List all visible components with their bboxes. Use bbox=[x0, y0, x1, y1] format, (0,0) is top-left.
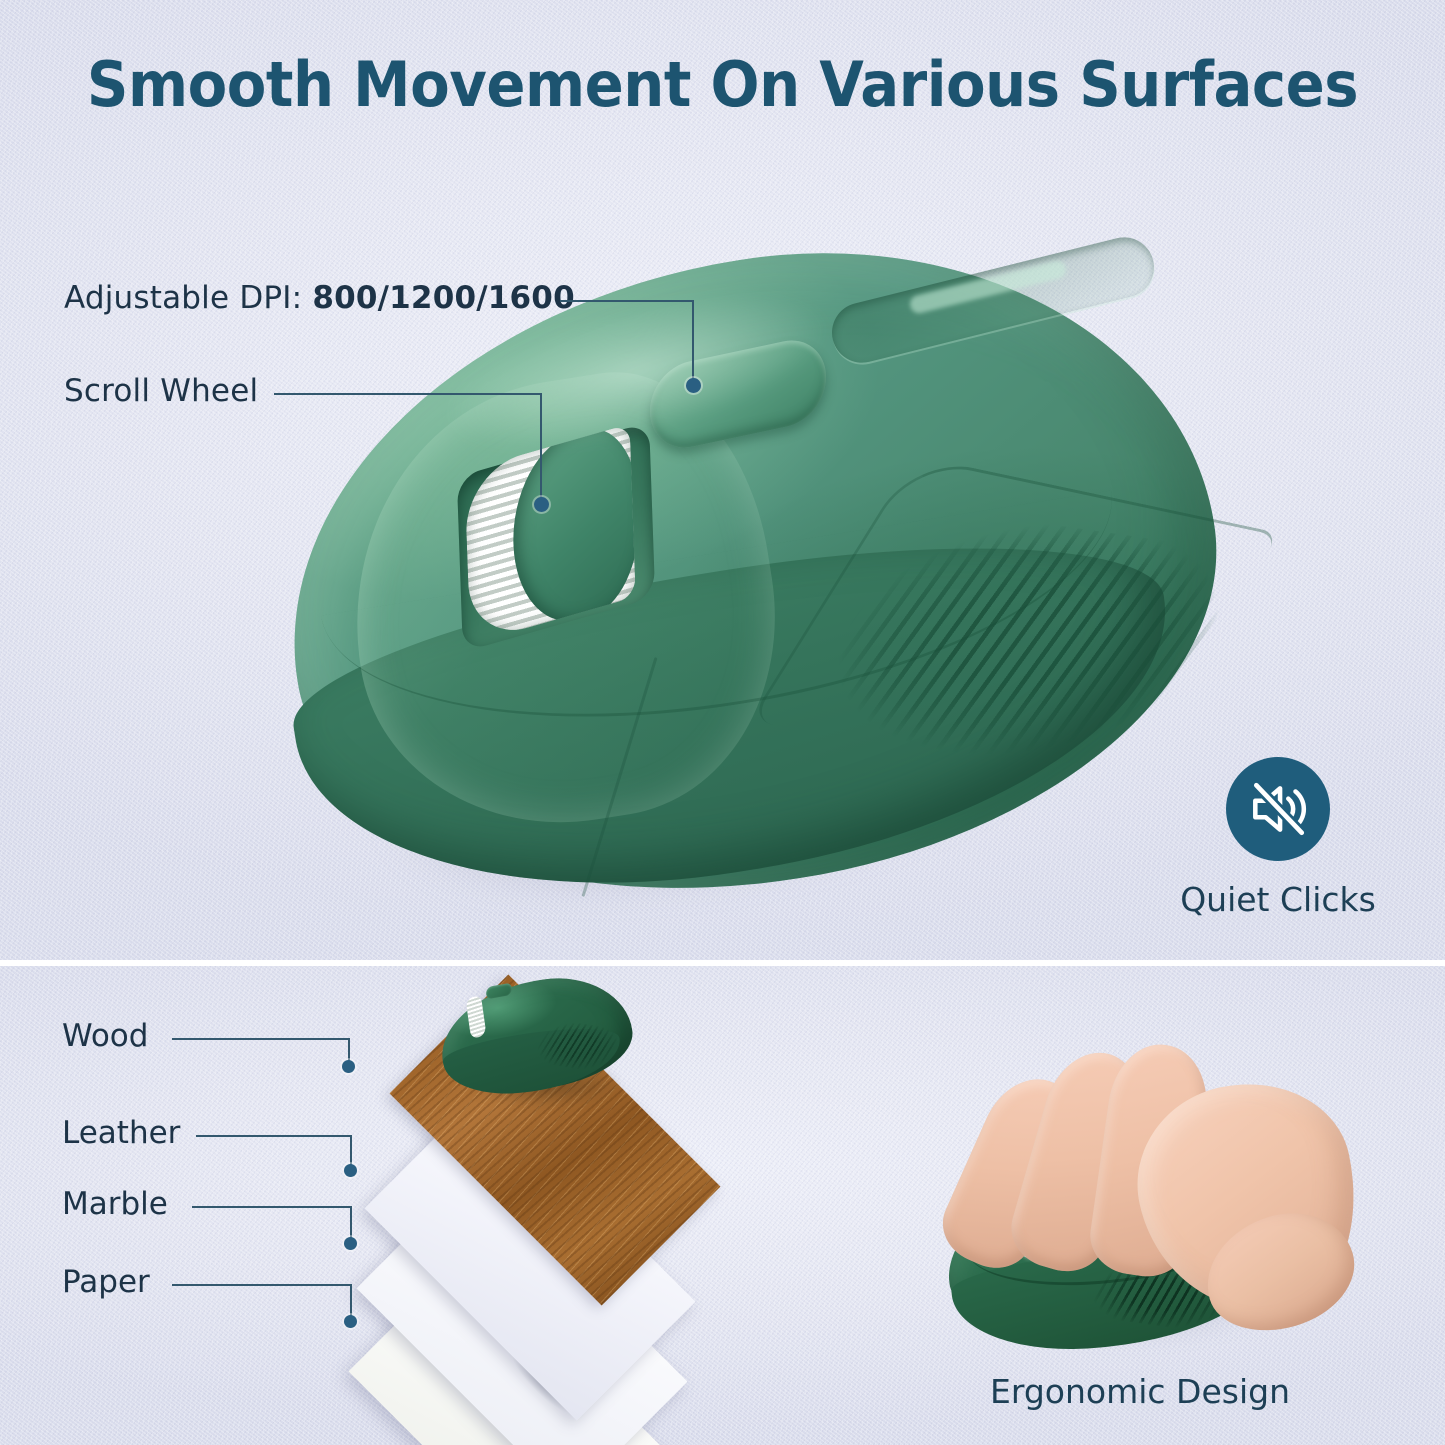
surface-marble-leader-horizontal bbox=[192, 1206, 352, 1208]
callout-dpi-leader-vertical bbox=[692, 300, 694, 386]
surface-label-marble: Marble bbox=[62, 1186, 168, 1222]
surface-wood-endpoint-dot bbox=[342, 1060, 355, 1073]
callout-scroll-wheel-label: Scroll Wheel bbox=[64, 373, 258, 409]
quiet-clicks-caption: Quiet Clicks bbox=[1150, 880, 1406, 919]
callout-scroll-leader-vertical bbox=[540, 393, 542, 505]
callout-scroll-wheel: Scroll Wheel bbox=[64, 373, 258, 409]
surface-label-paper: Paper bbox=[62, 1264, 150, 1300]
surface-label-leather: Leather bbox=[62, 1115, 180, 1151]
ergonomic-design-caption: Ergonomic Design bbox=[900, 1372, 1380, 1411]
callout-dpi-endpoint-dot bbox=[686, 378, 701, 393]
product-infographic: Smooth Movement On Various Surfaces Adju… bbox=[0, 0, 1445, 1445]
surface-paper-leader-horizontal bbox=[172, 1284, 352, 1286]
surface-leather-leader-horizontal bbox=[196, 1135, 352, 1137]
product-photo-main-mouse bbox=[268, 252, 1228, 892]
callout-scroll-leader-horizontal bbox=[274, 393, 542, 395]
callout-dpi-leader-horizontal bbox=[560, 300, 694, 302]
callout-dpi-prefix: Adjustable DPI: bbox=[64, 280, 312, 316]
callout-scroll-endpoint-dot bbox=[534, 497, 549, 512]
surface-paper-endpoint-dot bbox=[344, 1315, 357, 1328]
surface-wood-leader-horizontal bbox=[172, 1038, 350, 1040]
muted-speaker-icon bbox=[1245, 776, 1311, 842]
panel-divider bbox=[0, 960, 1445, 966]
callout-dpi: Adjustable DPI: 800/1200/1600 bbox=[64, 280, 575, 316]
callout-dpi-value: 800/1200/1600 bbox=[312, 280, 575, 316]
surface-marble-endpoint-dot bbox=[344, 1237, 357, 1250]
quiet-clicks-badge bbox=[1226, 757, 1330, 861]
product-photo-mini-mouse bbox=[430, 975, 645, 1110]
product-photo-hand-on-mouse bbox=[905, 1040, 1375, 1370]
surface-leather-endpoint-dot bbox=[344, 1164, 357, 1177]
page-title: Smooth Movement On Various Surfaces bbox=[51, 48, 1395, 121]
surface-label-wood: Wood bbox=[62, 1018, 148, 1054]
